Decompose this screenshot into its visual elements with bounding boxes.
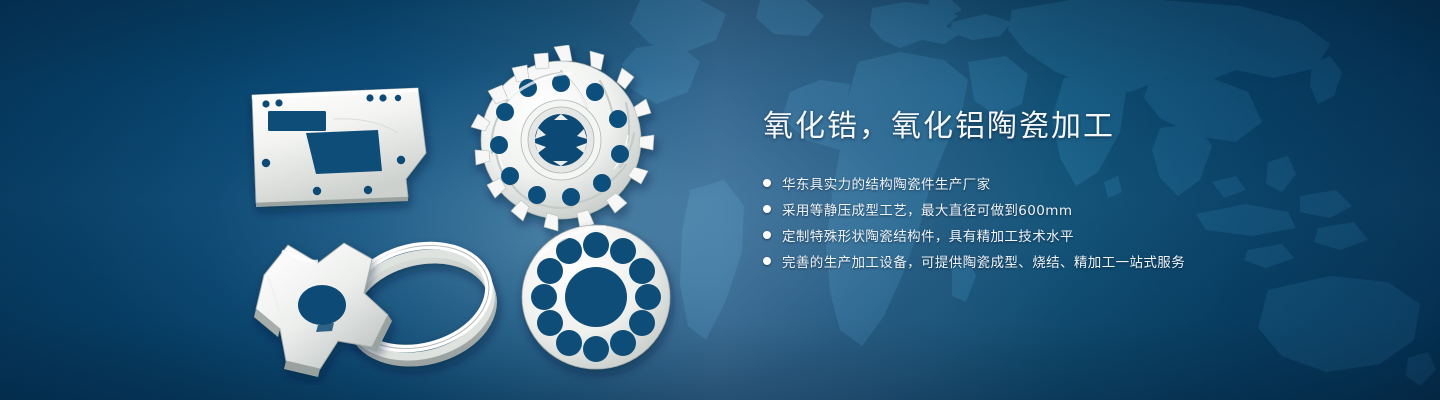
page-title: 氧化锆，氧化铝陶瓷加工	[763, 108, 1383, 146]
bullet-dot-icon	[763, 179, 771, 187]
feature-text: 华东具实力的结构陶瓷件生产厂家	[782, 173, 991, 193]
bullet-dot-icon	[763, 231, 771, 239]
list-item: 定制特殊形状陶瓷结构件，具有精加工技术水平	[763, 225, 1383, 246]
ceramic-plate	[252, 88, 426, 207]
ceramic-hole-disc	[522, 225, 670, 369]
feature-text: 完善的生产加工设备，可提供陶瓷成型、烧结、精加工一站式服务	[782, 251, 1185, 271]
bullet-dot-icon	[763, 257, 771, 265]
list-item: 完善的生产加工设备，可提供陶瓷成型、烧结、精加工一站式服务	[763, 251, 1383, 272]
feature-list: 华东具实力的结构陶瓷件生产厂家 采用等静压成型工艺，最大直径可做到600mm 定…	[763, 173, 1383, 272]
list-item: 华东具实力的结构陶瓷件生产厂家	[763, 173, 1383, 194]
ceramic-impeller	[471, 45, 654, 231]
banner-text-column: 氧化锆，氧化铝陶瓷加工 华东具实力的结构陶瓷件生产厂家 采用等静压成型工艺，最大…	[763, 108, 1383, 277]
product-photo-group	[230, 45, 700, 385]
feature-text: 定制特殊形状陶瓷结构件，具有精加工技术水平	[782, 225, 1074, 245]
hero-banner: 氧化锆，氧化铝陶瓷加工 华东具实力的结构陶瓷件生产厂家 采用等静压成型工艺，最大…	[0, 0, 1440, 400]
bullet-dot-icon	[763, 205, 771, 213]
list-item: 采用等静压成型工艺，最大直径可做到600mm	[763, 199, 1383, 220]
feature-text: 采用等静压成型工艺，最大直径可做到600mm	[782, 199, 1072, 219]
